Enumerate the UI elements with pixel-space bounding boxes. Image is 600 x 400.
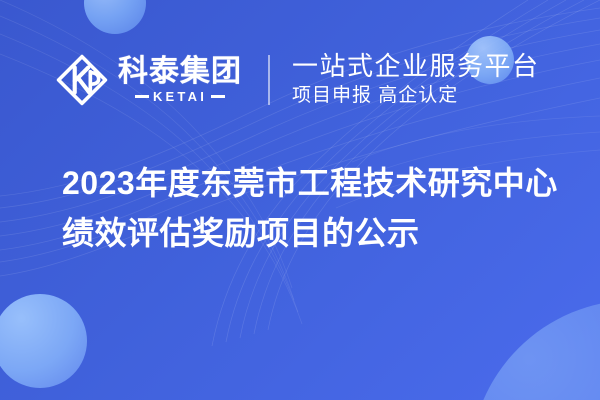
header-divider [268, 55, 270, 105]
wordmark-dash-left [135, 95, 149, 98]
page-title-line-2: 绩效评估奖励项目的公示 [62, 208, 582, 258]
brand-name-en-text: KETAI [153, 90, 207, 103]
tagline-primary: 一站式企业服务平台 [292, 51, 540, 82]
banner-header: 科泰集团 KETAI 一站式企业服务平台 项目申报 高企认定 [0, 44, 600, 116]
ketai-diamond-kp-logo-icon [56, 54, 108, 106]
promo-banner: 科泰集团 KETAI 一站式企业服务平台 项目申报 高企认定 2023年度东莞市… [0, 0, 600, 400]
tagline-secondary: 项目申报 高企认定 [292, 84, 540, 109]
decor-circle-top-left [84, 0, 146, 34]
brand-name-en: KETAI [135, 90, 225, 103]
brand-name-cn: 科泰集团 [118, 57, 242, 88]
decor-circle-bottom-left [0, 294, 87, 388]
tagline-block: 一站式企业服务平台 项目申报 高企认定 [292, 51, 540, 108]
decor-circle-bottom-right [470, 300, 600, 400]
brand-logo: 科泰集团 KETAI [56, 54, 242, 106]
page-title-line-1: 2023年度东莞市工程技术研究中心 [62, 158, 582, 208]
page-title: 2023年度东莞市工程技术研究中心 绩效评估奖励项目的公示 [62, 158, 582, 258]
brand-wordmark: 科泰集团 KETAI [118, 57, 242, 104]
wordmark-dash-right [211, 95, 225, 98]
